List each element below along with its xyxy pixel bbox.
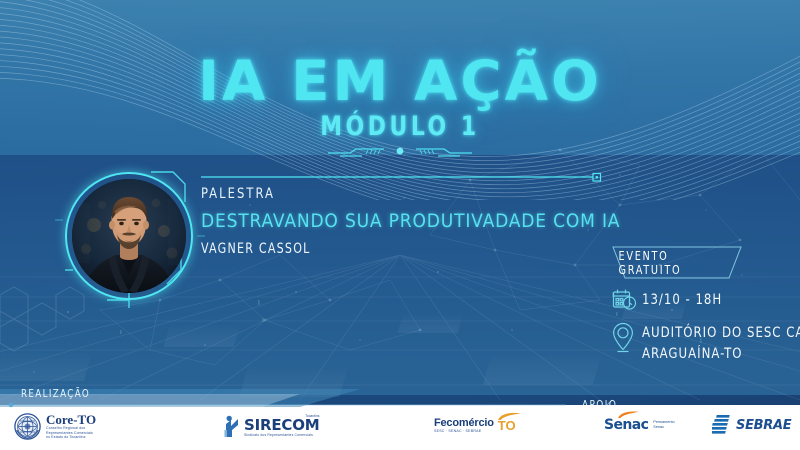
logo-sebrae: SEBRAE <box>712 414 791 436</box>
event-datetime: 13/10 - 18H <box>642 291 722 309</box>
event-location-row: AUDITÓRIO DO SESC CA ARAGUAÍNA-TO <box>612 321 797 363</box>
realizacao-label: REALIZAÇÃO <box>21 388 90 400</box>
talk-title: DESTRAVANDO SUA PRODUTIVADADE COM IA <box>201 210 579 232</box>
sirecom-figure-icon <box>222 414 242 438</box>
event-datetime-row: 13/10 - 18H <box>612 288 797 312</box>
sirecom-name: SIRECOM <box>244 418 319 433</box>
event-poster: IA EM AÇÃO MÓDULO 1 <box>0 0 800 450</box>
core-to-seal-icon <box>14 413 41 440</box>
footer-logos-bar: REALIZAÇÃO <box>0 405 800 450</box>
logo-core-to: Core-TO Conselho Regional dos Representa… <box>14 413 96 440</box>
logo-senac: Senac Pensamento Senac <box>604 418 675 432</box>
status-badge: EVENTO GRATUITO <box>612 246 742 279</box>
senac-name: Senac <box>604 418 648 432</box>
speaker-photo-container <box>65 172 193 300</box>
event-details-block: 13/10 - 18H AUDITÓRIO DO SESC CA ARAGUAÍ… <box>612 288 797 363</box>
core-to-name: Core-TO <box>46 413 96 426</box>
logo-sirecom: Tocantins SIRECOM Sindicato dos Represen… <box>222 414 319 438</box>
calendar-clock-icon <box>612 288 642 312</box>
talk-divider-line <box>201 172 605 182</box>
logo-fecomercio: Fecomércio SESC · SENAC · SEBRAE TO <box>434 417 516 434</box>
free-event-label: EVENTO GRATUITO <box>619 246 736 279</box>
poster-title-block: IA EM AÇÃO MÓDULO 1 <box>0 52 800 161</box>
sebrae-stripes-icon <box>712 414 734 436</box>
talk-kicker-label: PALESTRA <box>201 186 587 202</box>
page-title: IA EM AÇÃO <box>0 52 800 110</box>
sebrae-name: SEBRAE <box>736 419 791 432</box>
map-pin-icon <box>612 321 642 357</box>
avatar <box>72 179 186 293</box>
fecomercio-swoosh-icon <box>497 412 523 421</box>
senac-sub2: Senac <box>653 425 674 430</box>
title-divider-ornament <box>310 145 490 161</box>
talk-info-block: PALESTRA DESTRAVANDO SUA PRODUTIVADADE C… <box>201 176 621 257</box>
event-venue: AUDITÓRIO DO SESC CA <box>642 321 800 342</box>
fecomercio-sub: SESC · SENAC · SEBRAE <box>434 429 494 434</box>
sponsor-logo-row: Core-TO Conselho Regional dos Representa… <box>0 405 800 450</box>
poster-subtitle: MÓDULO 1 <box>40 112 760 142</box>
senac-swoosh-icon <box>618 411 640 419</box>
sirecom-sub: Sindicato dos Representantes Comerciais <box>244 433 319 438</box>
event-city: ARAGUAÍNA-TO <box>642 342 800 363</box>
fecomercio-name: Fecomércio <box>434 417 494 429</box>
talk-speaker-name: VAGNER CASSOL <box>201 241 571 257</box>
core-to-sub3: no Estado do Tocantins <box>46 435 96 440</box>
